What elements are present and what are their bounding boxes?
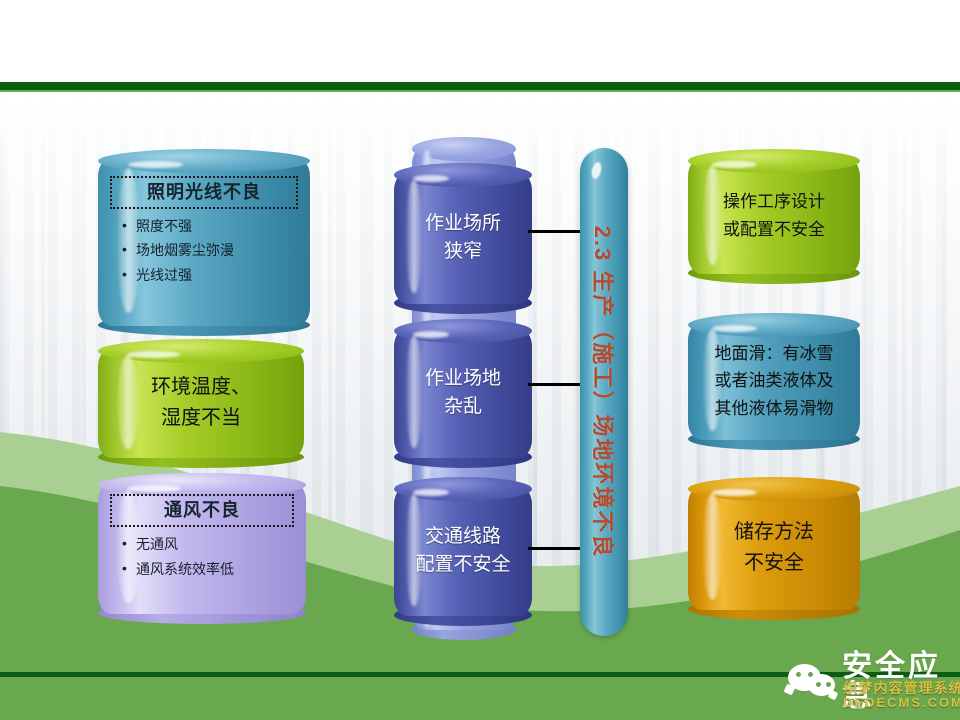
card-narrow-worksite[interactable]: 作业场所 狭窄 [394, 172, 532, 304]
card-content: 照明光线不良 照度不强 场地烟雾尘弥漫 光线过强 [98, 158, 310, 326]
bullet-list: 照度不强 场地烟雾尘弥漫 光线过强 [122, 219, 234, 292]
card-line: 交通线路 [425, 523, 501, 552]
card-line: 狭窄 [444, 238, 482, 267]
card-lighting[interactable]: 照明光线不良 照度不强 场地烟雾尘弥漫 光线过强 [98, 158, 310, 326]
slide-root: 照明光线不良 照度不强 场地烟雾尘弥漫 光线过强 环境温度、 湿度不当 通风不良… [0, 0, 960, 720]
wechat-dot [816, 682, 821, 687]
top-divider-highlight [0, 90, 960, 92]
card-slippery-ground[interactable]: 地面滑：有冰雪 或者油类液体及 其他液体易滑物 [688, 322, 860, 440]
card-temperature-humidity[interactable]: 环境温度、 湿度不当 [98, 348, 304, 458]
card-line: 作业场所 [425, 210, 501, 239]
connector-line-top [528, 230, 584, 233]
card-line: 其他液体易滑物 [715, 395, 834, 423]
card-header: 通风不良 [110, 494, 294, 527]
card-ventilation[interactable]: 通风不良 无通风 通风系统效率低 [98, 482, 306, 614]
wechat-dot [826, 682, 831, 687]
watermark-site-en: DEDECMS.COM [843, 696, 960, 711]
connector-line-middle [528, 383, 584, 386]
list-item: 照度不强 [122, 219, 234, 234]
card-header: 照明光线不良 [110, 176, 298, 209]
card-storage-method[interactable]: 储存方法 不安全 [688, 486, 860, 610]
card-line: 作业场地 [425, 365, 501, 394]
list-item: 光线过强 [122, 268, 234, 283]
card-line: 或配置不安全 [723, 216, 825, 244]
card-content: 作业场所 狭窄 [394, 172, 532, 304]
card-line: 不安全 [744, 548, 804, 579]
card-line: 储存方法 [734, 517, 814, 548]
connector-line-bottom [528, 547, 584, 550]
spine-title: 2.3 生产（施工）场地环境不良 [588, 226, 620, 559]
watermark-site-cn: 织梦内容管理系统 [843, 680, 960, 696]
card-content: 储存方法 不安全 [688, 486, 860, 610]
top-divider-bar [0, 82, 960, 90]
card-content: 交通线路 配置不安全 [394, 486, 532, 616]
card-content: 地面滑：有冰雪 或者油类液体及 其他液体易滑物 [688, 322, 860, 440]
card-line: 杂乱 [444, 393, 482, 422]
cylinder-cap [412, 137, 516, 161]
card-content: 作业场地 杂乱 [394, 328, 532, 458]
card-line: 或者油类液体及 [715, 367, 834, 395]
card-line: 环境温度、 [151, 372, 251, 403]
wechat-dot [808, 672, 813, 677]
card-content: 环境温度、 湿度不当 [98, 348, 304, 458]
card-line: 地面滑：有冰雪 [715, 340, 834, 368]
card-process-design[interactable]: 操作工序设计 或配置不安全 [688, 158, 860, 274]
list-item: 场地烟雾尘弥漫 [122, 243, 234, 258]
card-traffic-route[interactable]: 交通线路 配置不安全 [394, 486, 532, 616]
watermark-dedecms: 织梦内容管理系统 DEDECMS.COM [843, 680, 960, 711]
wechat-dot [796, 672, 801, 677]
card-content: 通风不良 无通风 通风系统效率低 [98, 482, 306, 614]
card-line: 湿度不当 [161, 403, 241, 434]
bullet-list: 无通风 通风系统效率低 [122, 537, 234, 586]
wechat-icon [788, 662, 842, 702]
card-content: 操作工序设计 或配置不安全 [688, 158, 860, 274]
spine-capsule[interactable]: 2.3 生产（施工）场地环境不良 [580, 148, 628, 636]
list-item: 无通风 [122, 537, 234, 552]
card-line: 配置不安全 [415, 551, 510, 580]
capsule-glint [590, 161, 603, 180]
card-messy-worksite[interactable]: 作业场地 杂乱 [394, 328, 532, 458]
card-line: 操作工序设计 [723, 188, 825, 216]
list-item: 通风系统效率低 [122, 562, 234, 577]
